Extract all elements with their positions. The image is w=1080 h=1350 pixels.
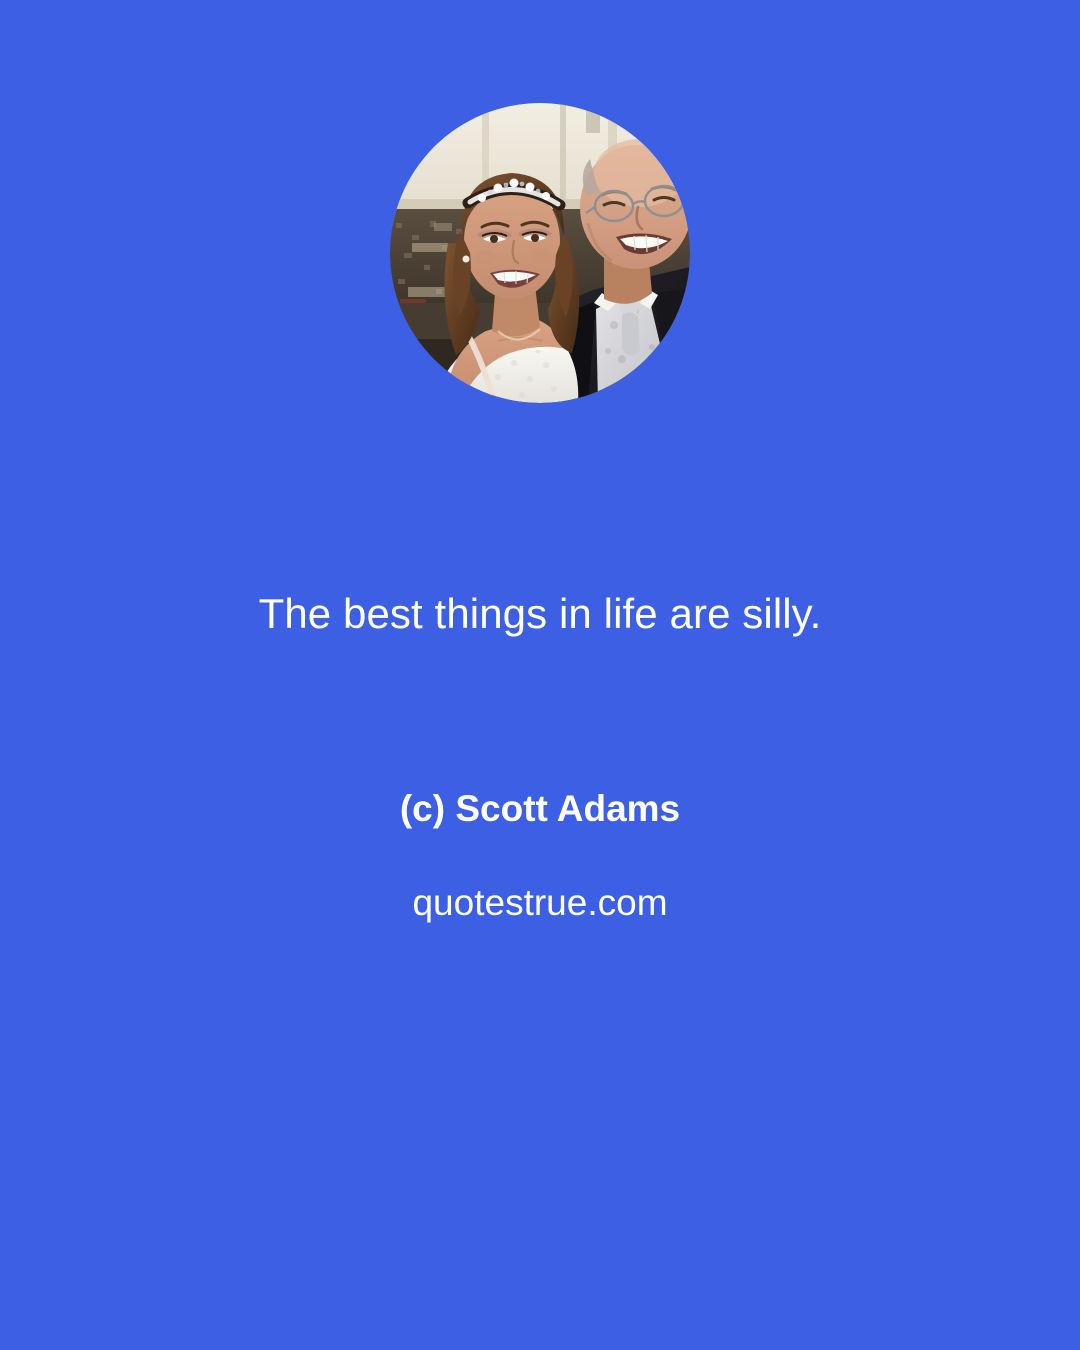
portrait-avatar — [390, 103, 690, 403]
portrait-photo-illustration — [390, 103, 690, 403]
quote-card: The best things in life are silly. (c) S… — [0, 0, 1080, 1350]
quote-author: (c) Scott Adams — [0, 786, 1080, 832]
website-attribution: quotestrue.com — [0, 880, 1080, 926]
quote-text: The best things in life are silly. — [0, 588, 1080, 641]
